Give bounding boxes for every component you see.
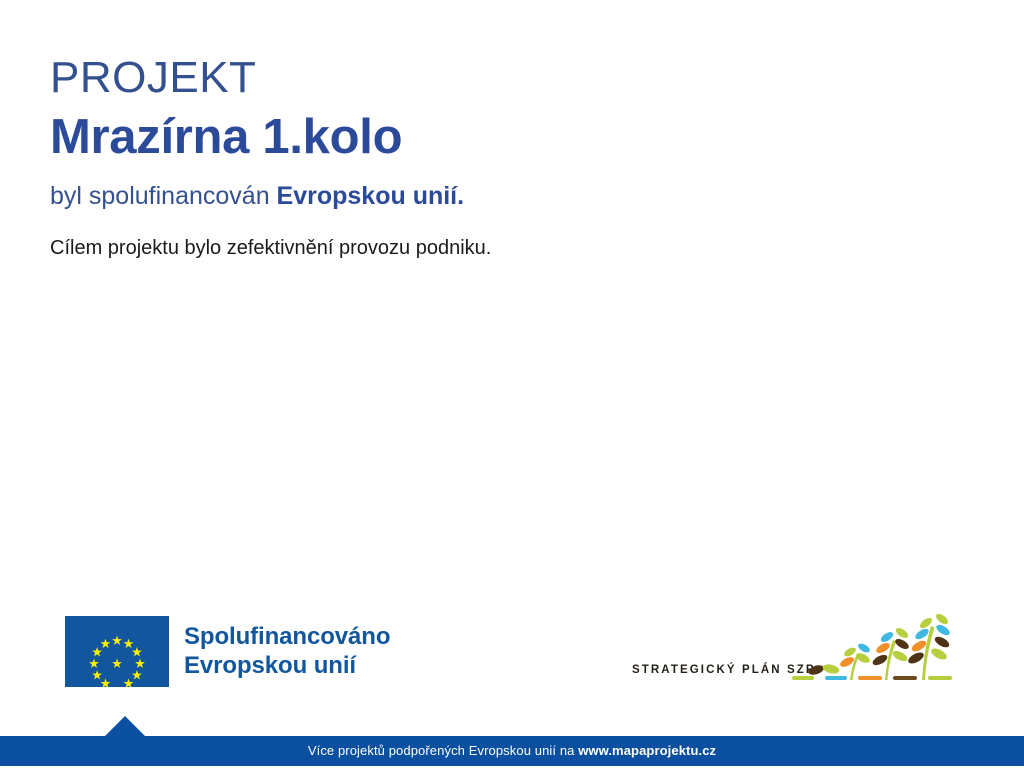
subtitle-emphasis: Evropskou unií.: [277, 182, 465, 210]
poster-canvas: PROJEKT Mrazírna 1.kolo byl spolufinanco…: [0, 0, 1024, 774]
eu-cofunding-logo: Spolufinancováno Evropskou unií: [65, 616, 390, 687]
szp-caption: STRATEGICKÝ PLÁN SZP: [632, 664, 816, 676]
headline-block: PROJEKT Mrazírna 1.kolo byl spolufinanco…: [50, 52, 930, 262]
subtitle-prefix: byl spolufinancován: [50, 182, 277, 210]
eu-logo-line2: Evropskou unií: [184, 652, 356, 679]
eu-logo-text: Spolufinancováno Evropskou unií: [184, 623, 390, 680]
body-paragraph: Cílem projektu bylo zefektivnění provozu…: [50, 234, 930, 262]
bottom-banner: [0, 736, 1024, 766]
growing-plants-icon: [792, 614, 962, 692]
eu-logo-line1: Spolufinancováno: [184, 623, 390, 650]
eyebrow-label: PROJEKT: [50, 52, 930, 104]
szp-logo: STRATEGICKÝ PLÁN SZP: [632, 614, 962, 692]
page-title: Mrazírna 1.kolo: [50, 108, 930, 166]
subtitle-line: byl spolufinancován Evropskou unií.: [50, 180, 930, 212]
eu-flag-icon: [65, 616, 169, 687]
banner-notch-icon: [105, 716, 145, 736]
